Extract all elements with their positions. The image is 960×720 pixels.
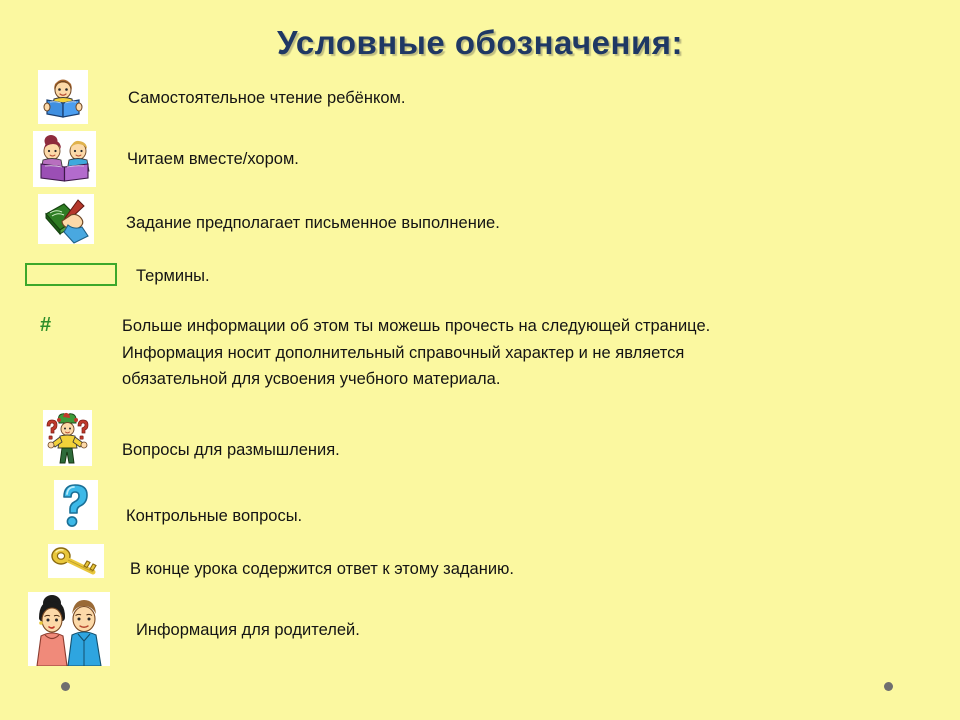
two-children-reading-book-icon	[33, 131, 96, 187]
info-paragraph: Больше информации об этом ты можешь проч…	[122, 313, 912, 393]
decorative-dot-right	[884, 682, 893, 691]
legend-label-7: Контрольные вопросы.	[126, 505, 302, 529]
decorative-dot-left	[61, 682, 70, 691]
info-paragraph-line-3: обязательной для усвоения учебного матер…	[122, 366, 912, 393]
parents-couple-icon	[28, 592, 110, 666]
legend-label-8: В конце урока содержится ответ к этому з…	[130, 558, 514, 582]
legend-label-1: Самостоятельное чтение ребёнком.	[128, 87, 405, 111]
empty-green-box-icon	[25, 263, 117, 286]
info-paragraph-line-2: Информация носит дополнительный справочн…	[122, 340, 912, 367]
slide-canvas: Условные обозначения: Самостоятельное чт…	[0, 0, 960, 720]
golden-key-icon	[48, 544, 104, 578]
legend-label-4: Термины.	[136, 265, 210, 289]
child-reading-book-icon	[38, 70, 88, 124]
legend-label-2: Читаем вместе/хором.	[127, 148, 299, 172]
legend-label-9: Информация для родителей.	[136, 619, 360, 643]
legend-label-3: Задание предполагает письменное выполнен…	[126, 212, 500, 236]
hand-writing-notebook-icon	[38, 194, 94, 244]
info-paragraph-line-1: Больше информации об этом ты можешь проч…	[122, 313, 912, 340]
boy-with-question-marks-icon	[43, 410, 92, 466]
legend-label-6: Вопросы для размышления.	[122, 439, 340, 463]
blue-question-mark-icon	[54, 480, 98, 530]
hash-symbol-icon: #	[40, 314, 51, 337]
page-title: Условные обозначения:	[0, 24, 960, 62]
